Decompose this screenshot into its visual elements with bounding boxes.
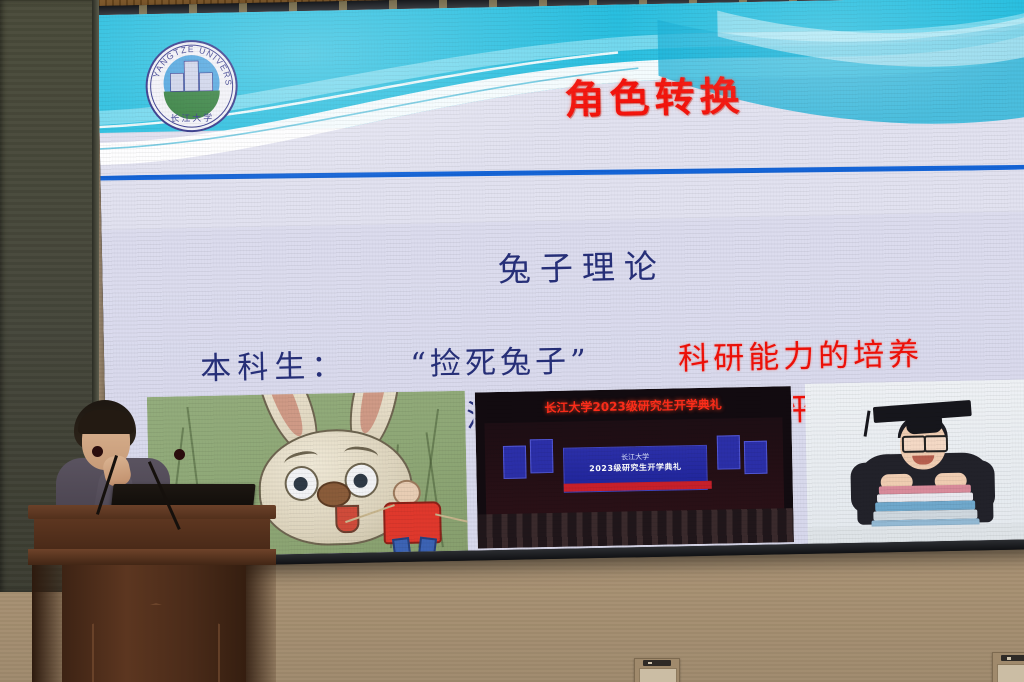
power-outlet-right <box>992 652 1024 682</box>
wooden-lectern <box>28 505 276 682</box>
row-quote-undergraduate: “捡死兔子” <box>410 333 679 383</box>
power-outlet-left <box>634 658 680 682</box>
lectern-top <box>28 505 276 519</box>
lectern-band <box>34 519 270 549</box>
lectern-front-panel <box>62 565 246 682</box>
row-note-undergraduate: 科研能力的培养 <box>678 328 924 378</box>
outlet-switch-left <box>643 660 671 665</box>
graduate-glasses-right <box>924 435 948 452</box>
presentation-slide: YANGTZE UNIVERSITY 长江大学 角色转换 兔子理论 本科生： “ <box>97 0 1024 558</box>
slide-subtitle: 兔子理论 <box>102 232 1024 299</box>
side-banner-left-1 <box>503 445 526 479</box>
graduate-photo <box>805 379 1024 544</box>
ceremony-photo: 长江大学2023级研究生开学典礼 长江大学 2023级研究生开学典礼 <box>473 384 796 550</box>
lectern-lip <box>28 549 276 565</box>
side-banner-right-1 <box>717 435 740 469</box>
graduate-glasses-left <box>902 435 926 452</box>
side-banner-right-2 <box>744 440 767 474</box>
led-display-screen: YANGTZE UNIVERSITY 长江大学 角色转换 兔子理论 本科生： “ <box>97 0 1024 568</box>
row-label-undergraduate: 本科生： <box>200 339 411 388</box>
lecture-hall-scene: YANGTZE UNIVERSITY 长江大学 角色转换 兔子理论 本科生： “ <box>0 0 1024 682</box>
ceremony-stage: 长江大学 2023级研究生开学典礼 <box>485 418 784 518</box>
ceremony-audience <box>477 508 794 549</box>
outlet-plate-left <box>639 668 678 682</box>
outlet-plate-right <box>997 664 1024 682</box>
side-banner-left-2 <box>530 439 553 473</box>
presenter-fringe <box>78 410 134 434</box>
gooseneck-mic-right-head <box>174 449 185 460</box>
gooseneck-mic-left-head <box>92 446 103 457</box>
slide-row: 本科生： “捡死兔子” 科研能力的培养 <box>200 325 1024 388</box>
ceremony-led-title: 2023级研究生开学典礼 <box>564 461 707 475</box>
outlet-switch-right <box>1001 655 1024 662</box>
